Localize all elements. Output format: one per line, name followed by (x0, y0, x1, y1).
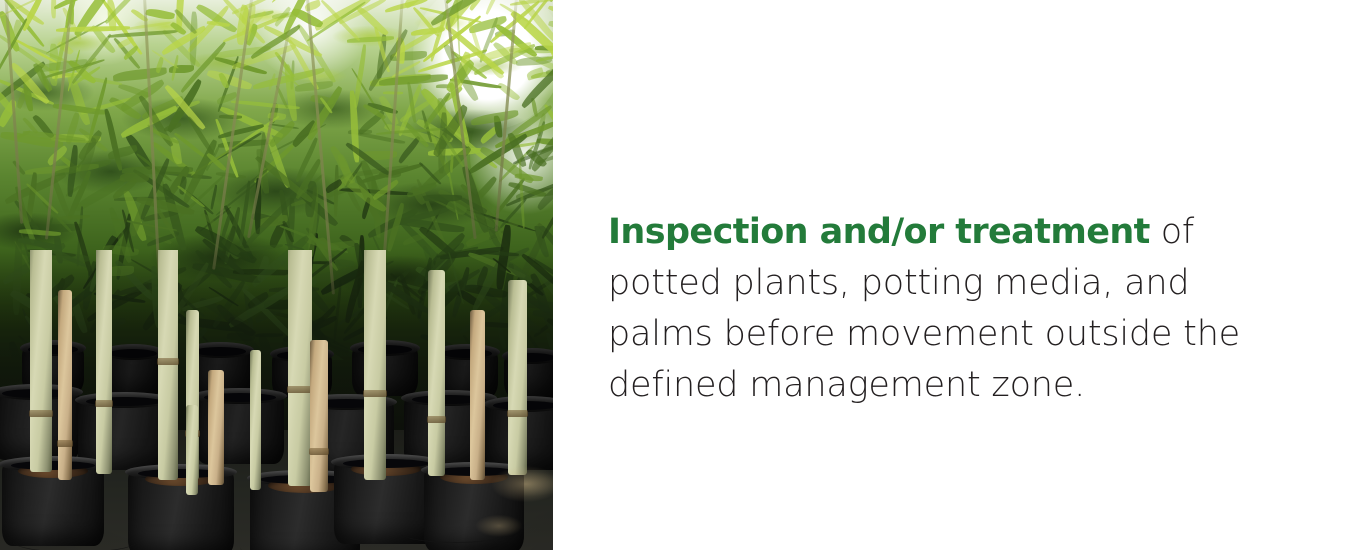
palm-leaflet (57, 215, 90, 220)
palm-trunk-5 (208, 370, 224, 485)
palm-leaflet (525, 67, 544, 81)
caption-lead: Inspection and/or treatment (608, 212, 1150, 252)
palm-leaflet (145, 8, 175, 22)
palm-leaflet (283, 64, 297, 121)
caption-paragraph: Inspection and/or treatment of potted pl… (608, 207, 1298, 411)
palm-trunk-7 (186, 405, 198, 495)
palm-trunk-14 (250, 350, 261, 490)
palm-trunk-2 (58, 290, 72, 480)
palm-trunk-9 (364, 250, 386, 480)
potting-media-2 (145, 472, 217, 486)
palm-leaflet (305, 86, 344, 141)
ground-dappled-light (463, 440, 553, 550)
palm-trunk-13 (96, 250, 112, 474)
slide-root: Inspection and/or treatment of potted pl… (0, 0, 1350, 550)
potting-media-1 (18, 464, 87, 478)
drip-line-1 (10, 526, 140, 550)
palm-trunk-1 (30, 250, 52, 472)
nursery-photo (0, 0, 553, 550)
potting-media-4 (351, 462, 422, 476)
pot-back-2 (104, 350, 162, 396)
palm-trunk-8 (310, 340, 328, 492)
drip-line-2 (240, 536, 360, 550)
palm-trunk-3 (158, 250, 178, 480)
caption-panel: Inspection and/or treatment of potted pl… (553, 0, 1350, 550)
palm-leaflet (383, 91, 403, 95)
palm-trunk-10 (428, 270, 445, 476)
